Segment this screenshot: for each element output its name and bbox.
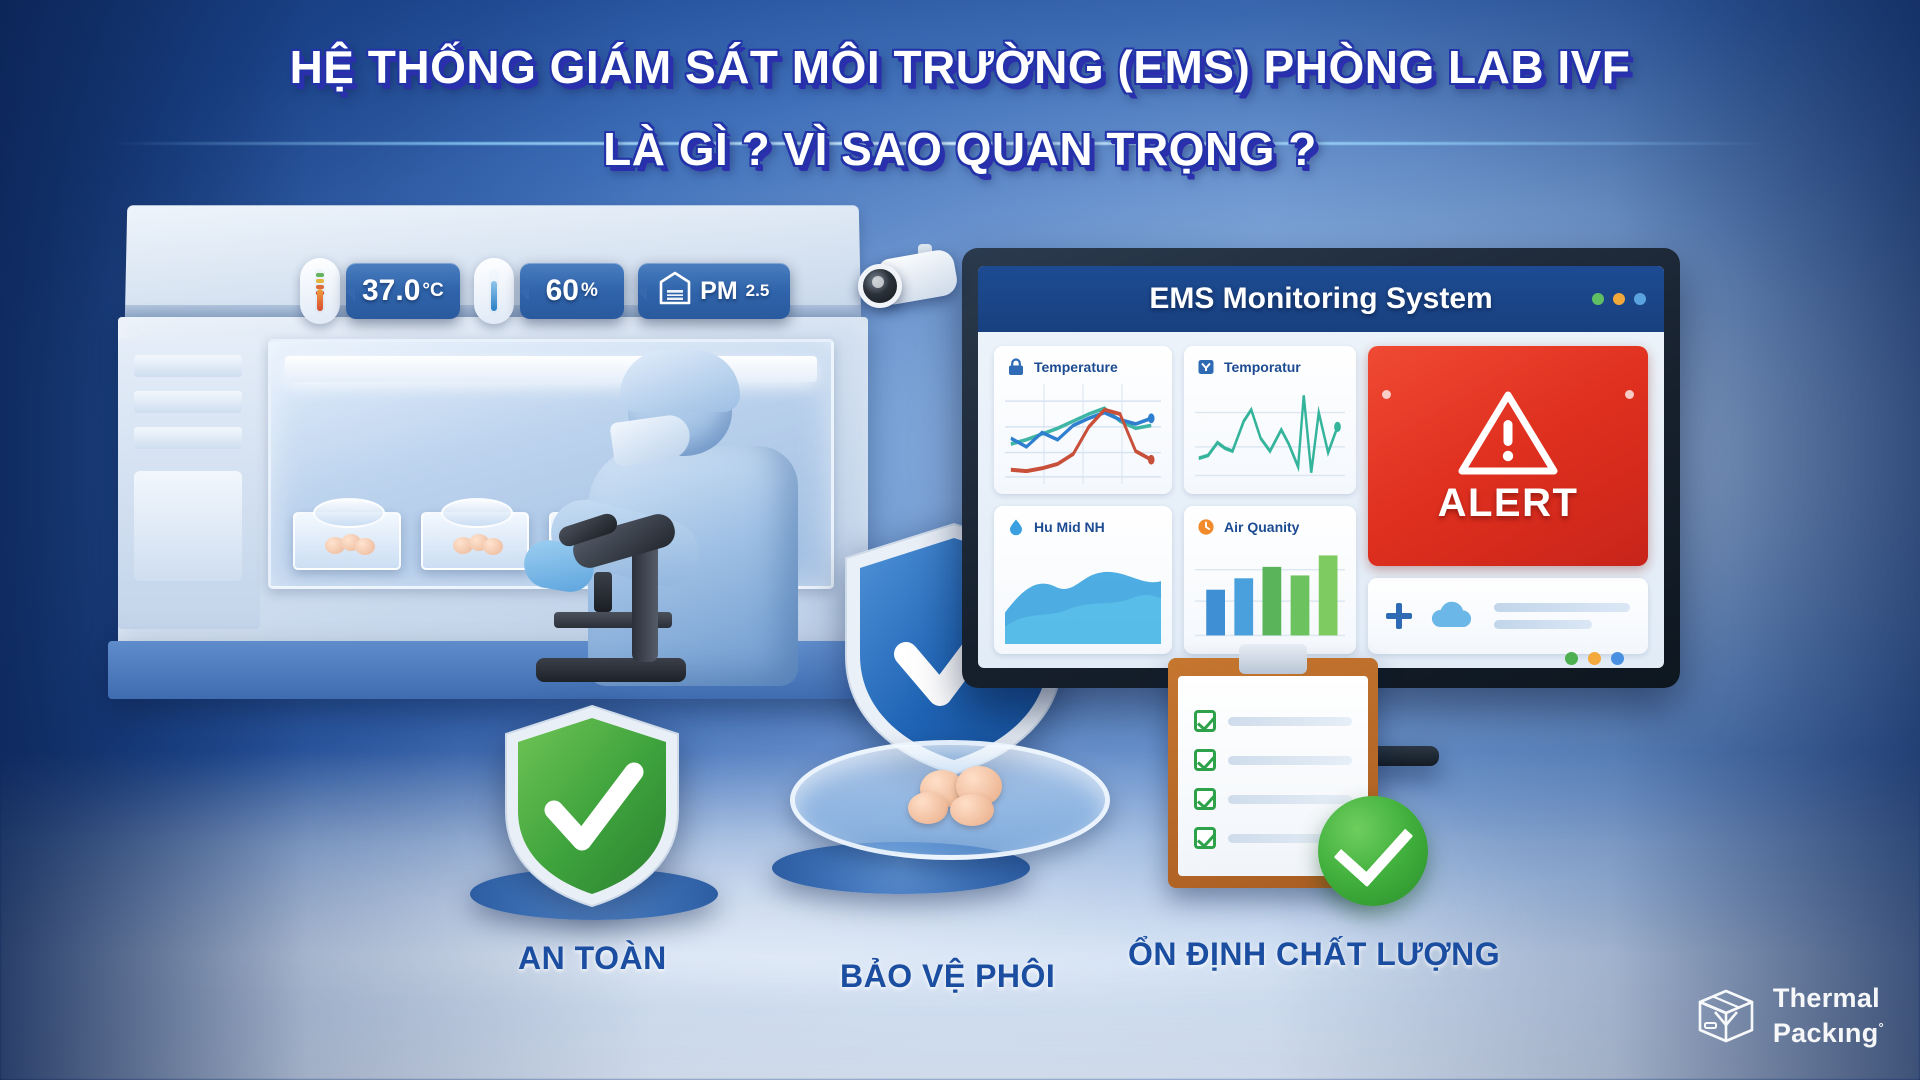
droplet-icon xyxy=(1005,516,1027,538)
checklist-item[interactable] xyxy=(1194,788,1352,810)
card-air-quality[interactable]: Air Quanity xyxy=(1184,506,1356,654)
card-humidity-label: Hu Mid NH xyxy=(1034,519,1105,535)
toolbar-placeholder-lines xyxy=(1494,603,1630,629)
ems-monitor: EMS Monitoring System xyxy=(962,248,1680,688)
safety-shield xyxy=(498,700,686,912)
sample-tray xyxy=(293,512,401,570)
humidity-value: 60 xyxy=(546,274,579,308)
check-icon xyxy=(1194,827,1216,849)
card-temporatur[interactable]: Temporatur xyxy=(1184,346,1356,494)
checklist-item[interactable] xyxy=(1194,749,1352,771)
funnel-icon xyxy=(1195,356,1217,378)
page-title: HỆ THỐNG GIÁM SÁT MÔI TRƯỜNG (EMS) PHÒNG… xyxy=(0,38,1920,178)
brand-logo: Thermal Packıng° xyxy=(1695,983,1884,1048)
alert-label: ALERT xyxy=(1438,481,1579,526)
cabinet-left-panel xyxy=(118,339,260,629)
temperature-unit: °C xyxy=(422,280,443,302)
card-temperature[interactable]: Temperature xyxy=(994,346,1172,494)
badge-temperature: 37.0 °C xyxy=(300,258,460,324)
lab-technician xyxy=(540,360,840,690)
sample-tray xyxy=(421,512,529,570)
label-on-dinh-chat-luong: ỔN ĐỊNH CHẤT LƯỢNG xyxy=(1128,936,1500,973)
dashboard-header: EMS Monitoring System xyxy=(978,266,1664,332)
petri-dish-small xyxy=(313,498,385,528)
clock-icon xyxy=(1195,516,1217,538)
particulate-value: PM xyxy=(700,277,738,306)
checklist-clipboard xyxy=(1168,658,1378,888)
cctv-camera-icon xyxy=(852,248,956,322)
cloud-icon[interactable] xyxy=(1426,601,1480,631)
lock-icon xyxy=(1005,356,1027,378)
badge-humidity: 60 % xyxy=(474,258,624,324)
chart-air-quality xyxy=(1195,544,1345,644)
check-icon xyxy=(1194,710,1216,732)
dashboard-column-left: Temperature xyxy=(994,346,1172,654)
check-icon xyxy=(1194,749,1216,771)
dashboard-toolbar[interactable] xyxy=(1368,578,1648,654)
dashboard-body: Temperature xyxy=(978,332,1664,668)
dashboard-title: EMS Monitoring System xyxy=(1149,282,1492,316)
plus-icon[interactable] xyxy=(1386,603,1412,629)
card-air-quality-label: Air Quanity xyxy=(1224,519,1299,535)
title-line-1: HỆ THỐNG GIÁM SÁT MÔI TRƯỜNG (EMS) PHÒNG… xyxy=(0,38,1920,96)
logo-wordmark: Thermal Packıng° xyxy=(1773,983,1884,1048)
humidity-value-pill: 60 % xyxy=(520,263,624,319)
green-check-badge xyxy=(1318,796,1428,906)
card-temperature-label: Temperature xyxy=(1034,359,1118,375)
warning-triangle-icon xyxy=(1456,387,1560,477)
window-dots[interactable] xyxy=(1592,293,1646,305)
infographic-canvas: HỆ THỐNG GIÁM SÁT MÔI TRƯỜNG (EMS) PHÒNG… xyxy=(0,0,1920,1080)
sensor-badge-row: 37.0 °C 60 % xyxy=(300,258,790,324)
chart-humidity xyxy=(1005,544,1161,644)
petri-dish-small xyxy=(441,498,513,528)
card-humidity[interactable]: Hu Mid NH xyxy=(994,506,1172,654)
microscope-icon xyxy=(536,492,716,682)
monitor-screen: EMS Monitoring System xyxy=(978,266,1664,668)
particulate-value-pill: PM 2.5 xyxy=(638,263,790,319)
humidity-unit: % xyxy=(581,280,598,302)
checklist-item[interactable] xyxy=(1194,710,1352,732)
logo-line-1: Thermal xyxy=(1773,983,1884,1013)
petri-dish-main xyxy=(790,740,1110,860)
badge-particulate: PM 2.5 xyxy=(638,263,790,319)
box-icon xyxy=(1695,985,1757,1047)
thermometer-icon xyxy=(300,258,340,324)
chart-temperature xyxy=(1005,384,1161,484)
clipboard-clamp xyxy=(1239,644,1307,674)
card-temporatur-label: Temporatur xyxy=(1224,359,1301,375)
embryo-cluster xyxy=(898,766,1018,824)
label-an-toan: AN TOÀN xyxy=(518,940,667,977)
title-line-2: LÀ GÌ ? VÌ SAO QUAN TRỌNG ? xyxy=(0,120,1920,178)
dashboard-column-right: ALERT xyxy=(1368,346,1648,654)
particulate-unit: 2.5 xyxy=(746,281,770,301)
logo-line-2: Packıng° xyxy=(1773,1013,1884,1048)
technician-cap xyxy=(620,350,740,412)
monitor-status-dots xyxy=(1565,652,1624,665)
embryo-group xyxy=(449,534,507,556)
temperature-value: 37.0 xyxy=(362,274,420,308)
alert-panel[interactable]: ALERT xyxy=(1368,346,1648,566)
embryo-group xyxy=(321,534,379,556)
check-icon xyxy=(1194,788,1216,810)
dashboard-column-middle: Temporatur xyxy=(1184,346,1356,654)
chart-temporatur xyxy=(1195,384,1345,484)
label-bao-ve-phoi: BẢO VỆ PHÔI xyxy=(840,958,1055,995)
temperature-value-pill: 37.0 °C xyxy=(346,263,460,319)
humidity-sensor-icon xyxy=(474,258,514,324)
air-filter-icon xyxy=(658,270,692,313)
